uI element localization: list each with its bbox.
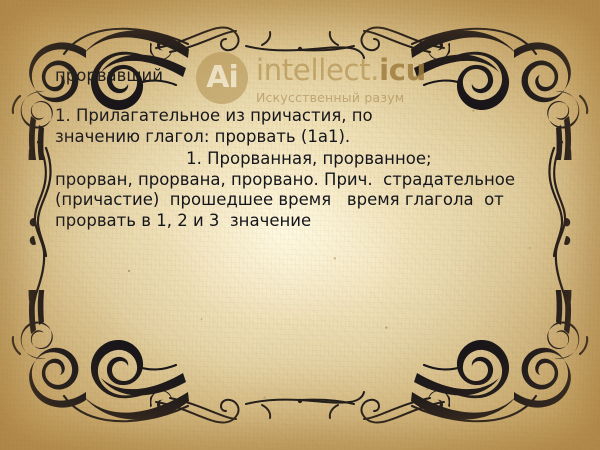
headword: прорвавший	[55, 66, 555, 86]
definition-sense-1: 1. Прилагательное из причастия, по значе…	[55, 106, 555, 147]
dictionary-entry: прорвавший 1. Прилагательное из причасти…	[55, 66, 555, 231]
parchment-dictionary-page: Ai intellect.icu Искусственный разум про…	[0, 0, 600, 450]
definition-sense-2: 1. Прорванная, прорванное; прорван, прор…	[55, 149, 555, 231]
